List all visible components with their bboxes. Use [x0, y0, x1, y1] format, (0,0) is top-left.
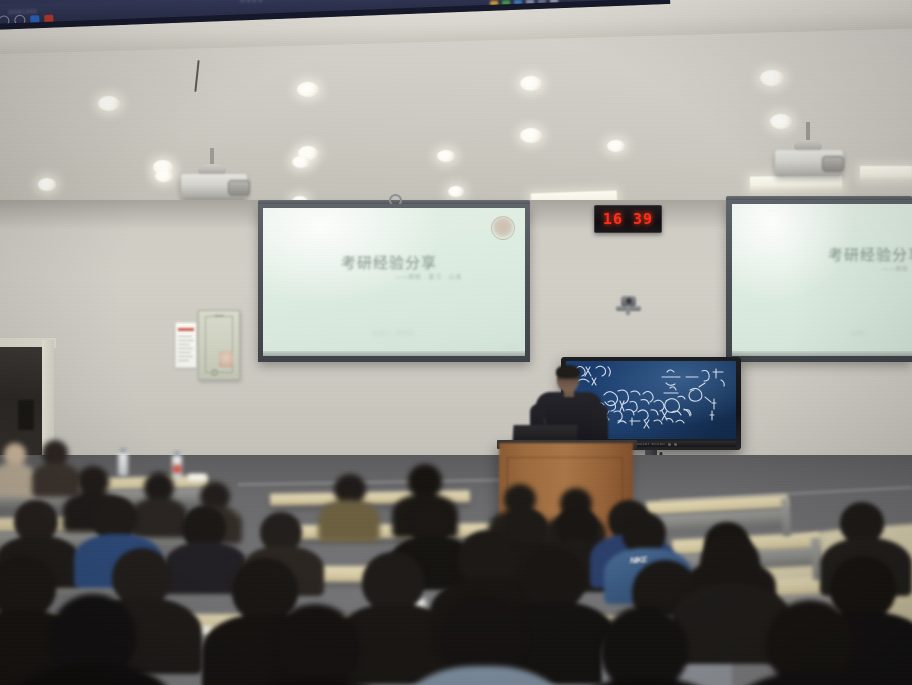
tray-icon-6[interactable]: [550, 0, 558, 6]
ceiling-downlight: [770, 114, 792, 129]
fire-equipment-cabinet[interactable]: [198, 310, 240, 380]
cabinet-lock-icon: [211, 369, 218, 376]
ceiling-downlight: [155, 170, 173, 182]
university-emblem-icon: [491, 216, 515, 240]
wall-notice-sheet: [175, 322, 197, 368]
main-projection-screen: 考研经验分享 ——择校 · 复习 · 心态 主讲人：研究生 分享会: [263, 208, 525, 356]
screen-bottom-edge-right: [732, 351, 912, 356]
tray-icon-4[interactable]: [526, 0, 534, 7]
ceiling-panel-light: [750, 175, 842, 191]
slide-title-right: 考研经验分享: [828, 244, 912, 265]
ceiling-downlight: [520, 128, 542, 143]
cabinet-handle[interactable]: [214, 315, 224, 317]
water-bottle: [118, 452, 128, 476]
ceiling-downlight: [760, 70, 784, 86]
slide-subtitle: ——择校 · 复习 · 心态: [395, 272, 462, 281]
cabinet-emblem-icon: [219, 351, 233, 367]
app-icon[interactable]: [44, 15, 53, 24]
ceiling-downlight: [437, 150, 455, 162]
tray-icon-2[interactable]: [502, 0, 510, 8]
doorway-interior: [18, 400, 34, 430]
tray-icon-3[interactable]: [514, 0, 522, 8]
clock-digits: 16 39: [603, 210, 653, 228]
slide-subtitle-right: ——择校: [882, 264, 908, 273]
ceiling-downlight: [38, 178, 56, 191]
nike-jacket-text: NIKE: [630, 555, 648, 565]
taskbar-tray-icons[interactable]: [490, 0, 558, 9]
camera-lens-icon: [626, 298, 632, 304]
projector-lens-right: [822, 156, 844, 172]
volume-down-button[interactable]: [674, 443, 677, 446]
projection-screen-frame-right: 考研经验分享 ——择校 主讲人: [726, 200, 912, 362]
notebook: [188, 474, 206, 482]
digital-wall-clock: 16 39: [594, 205, 662, 233]
presenter-hair: [556, 365, 580, 378]
explorer-icon[interactable]: [30, 15, 39, 24]
ceiling-downlight: [98, 96, 120, 111]
smart-board-brand: SMART BOARD: [637, 442, 666, 446]
secondary-projection-screen: 考研经验分享 ——择校 主讲人: [732, 204, 912, 356]
slide-footer-right: 主讲人: [850, 330, 868, 337]
projection-screen-frame-left: 考研经验分享 ——择校 · 复习 · 心态 主讲人：研究生 分享会: [258, 204, 530, 362]
projector-pole-right: [806, 122, 810, 142]
slide-footer: 主讲人：研究生: [373, 330, 415, 337]
ceiling-downlight: [607, 140, 625, 152]
monitor-center-label: 在线会议: [240, 0, 264, 4]
ceiling-downlight: [297, 82, 319, 97]
volume-up-button[interactable]: [668, 443, 671, 446]
ceiling-downlight: [520, 76, 542, 91]
screen-bottom-edge: [263, 351, 525, 356]
taskbar-icons: [0, 14, 54, 27]
slide-title: 考研经验分享: [341, 252, 437, 273]
tray-icon-1[interactable]: [490, 0, 498, 8]
projector-lens-left: [228, 180, 250, 196]
water-bottle: [172, 455, 182, 479]
camera-arm: [626, 306, 630, 315]
cortana-icon[interactable]: [14, 15, 25, 26]
tray-icon-5[interactable]: [538, 0, 546, 7]
ceiling-downlight: [292, 156, 310, 168]
ceiling-panel-light: [860, 166, 912, 180]
search-icon[interactable]: [0, 15, 10, 26]
ceiling-downlight: [448, 186, 464, 197]
slide-watermark: 分享会: [504, 344, 519, 351]
lecture-hall-photo: 2024/12/03 在线会议: [0, 0, 912, 685]
